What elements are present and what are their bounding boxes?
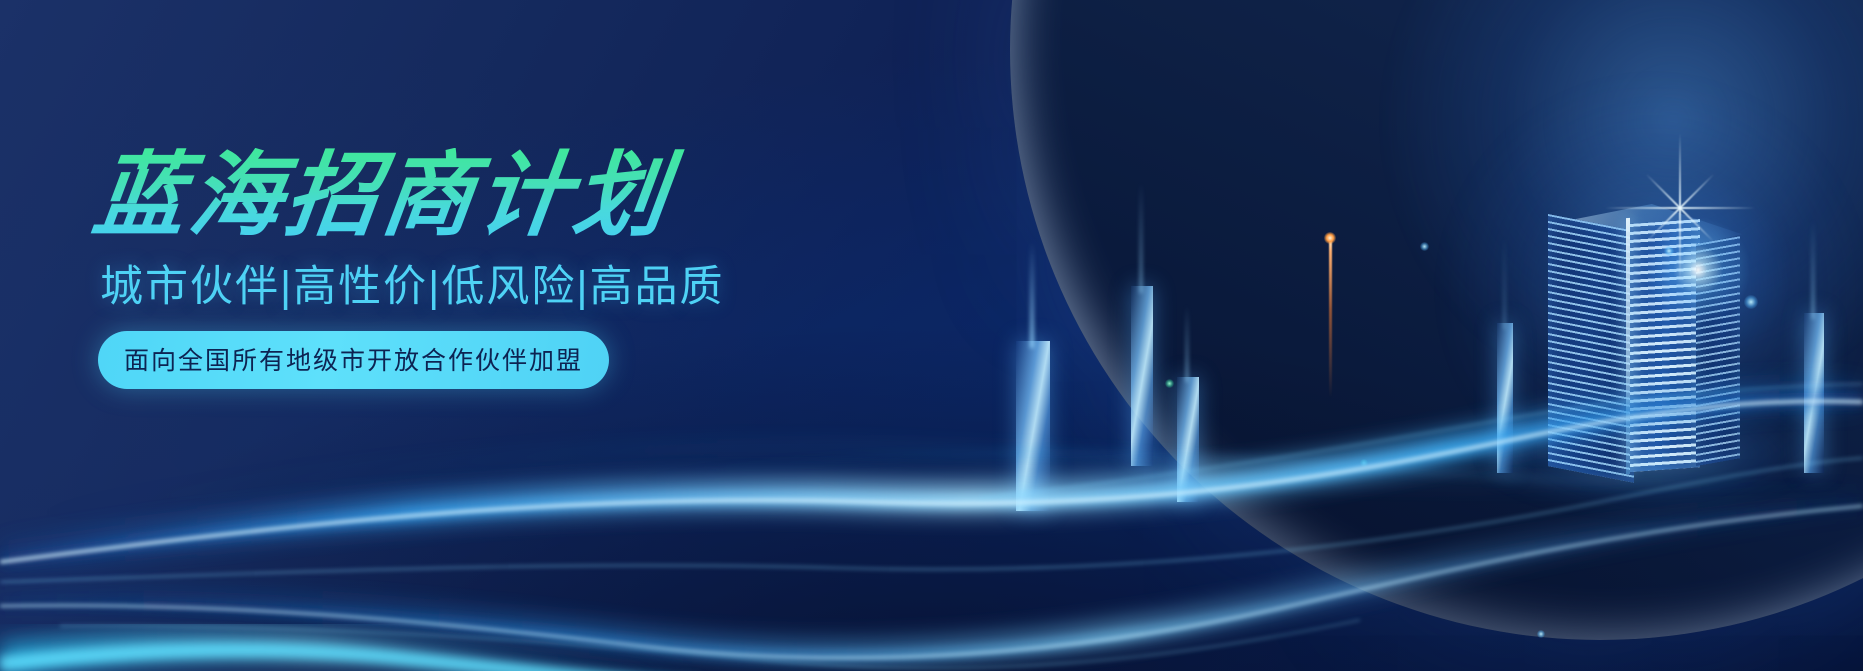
banner-headline: 蓝海招商计划 — [88, 148, 860, 246]
banner-subheadline: 城市伙伴|高性价|低风险|高品质 — [100, 264, 854, 311]
promo-banner: 蓝海招商计划 城市伙伴|高性价|低风险|高品质 面向全国所有地级市开放合作伙伴加… — [0, 0, 1863, 671]
banner-text-block: 蓝海招商计划 城市伙伴|高性价|低风险|高品质 面向全国所有地级市开放合作伙伴加… — [94, 148, 854, 389]
banner-cta-pill[interactable]: 面向全国所有地级市开放合作伙伴加盟 — [98, 331, 609, 389]
